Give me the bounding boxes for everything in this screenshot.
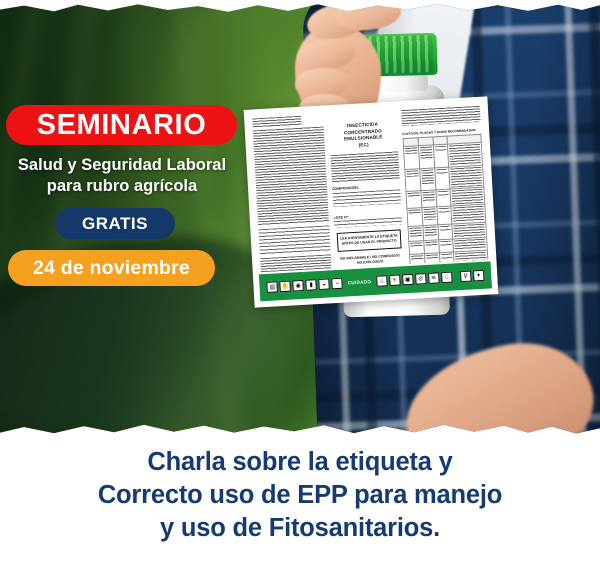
- label-product-type: INSECTICIDA CONCENTRADO EMULSIONABLE (EC…: [328, 120, 398, 150]
- seminar-subtitle: Salud y Seguridad Laboral para rubro agr…: [2, 155, 242, 198]
- caption-line-2: Correcto uso de EPP para manejo: [98, 481, 502, 509]
- badge-event-date: 24 de noviembre: [8, 250, 215, 286]
- toxic-to-fish-icon: ⚲: [460, 271, 472, 283]
- label-hazard-statement: NO INFLAMABLE / NO CORROSIVO NO EXPLOSIV…: [336, 253, 405, 267]
- badge-seminario: SEMINARIO: [6, 105, 237, 145]
- gloves-icon: ✋: [279, 281, 291, 293]
- caption-line-1: Charla sobre la etiqueta y: [147, 448, 452, 476]
- label-column-dose-table: CULTIVOS, PLAGAS Y DOSIS RECOMENDADAS:: [401, 106, 488, 264]
- badge-gratis: GRATIS: [55, 208, 175, 239]
- mask-icon: ◒: [318, 278, 330, 290]
- product-label-sheet: INSECTICIDA CONCENTRADO EMULSIONABLE (EC…: [244, 96, 499, 307]
- subtitle-line-1: Salud y Seguridad Laboral: [18, 156, 226, 174]
- goggles-icon: ◉: [292, 280, 304, 292]
- hero-photo-band: INSECTICIDA CONCENTRADO EMULSIONABLE (EC…: [0, 0, 600, 437]
- label-column-precautions: [252, 115, 331, 273]
- poster-caption: Charla sobre la etiqueta y Correcto uso …: [0, 446, 600, 545]
- store-locked-icon: ⌷: [441, 272, 453, 284]
- apron-icon: ▣: [402, 274, 414, 286]
- toxic-to-bees-icon: ✦: [473, 270, 485, 282]
- read-label-icon: ▤: [267, 281, 279, 293]
- label-columns: INSECTICIDA CONCENTRADO EMULSIONABLE (EC…: [250, 103, 491, 275]
- subtitle-line-2: para rubro agrícola: [47, 177, 197, 195]
- label-read-label-box: LEA ATENTAMENTE LA ETIQUETA ANTES DE USA…: [336, 229, 401, 251]
- label-dose-table: [403, 133, 489, 264]
- do-not-reuse-container-icon: ⊘: [415, 273, 427, 285]
- spray-nozzle-icon: ⌁: [331, 278, 343, 290]
- protective-suit-icon: ⍟: [389, 275, 401, 287]
- triple-rinse-icon: ≋: [428, 272, 440, 284]
- promotional-poster: INSECTICIDA CONCENTRADO EMULSIONABLE (EC…: [0, 0, 600, 561]
- caption-line-3: y uso de Fitosanitarios.: [160, 514, 440, 542]
- wash-hands-icon: ♨: [376, 275, 388, 287]
- badge-event-date-label: 24 de noviembre: [33, 257, 190, 280]
- label-signal-word: CUIDADO: [345, 279, 375, 286]
- badge-gratis-label: GRATIS: [82, 214, 148, 234]
- boots-icon: ▮: [305, 279, 317, 291]
- label-column-identity: INSECTICIDA CONCENTRADO EMULSIONABLE (EC…: [328, 110, 405, 268]
- badge-seminario-label: SEMINARIO: [37, 111, 207, 140]
